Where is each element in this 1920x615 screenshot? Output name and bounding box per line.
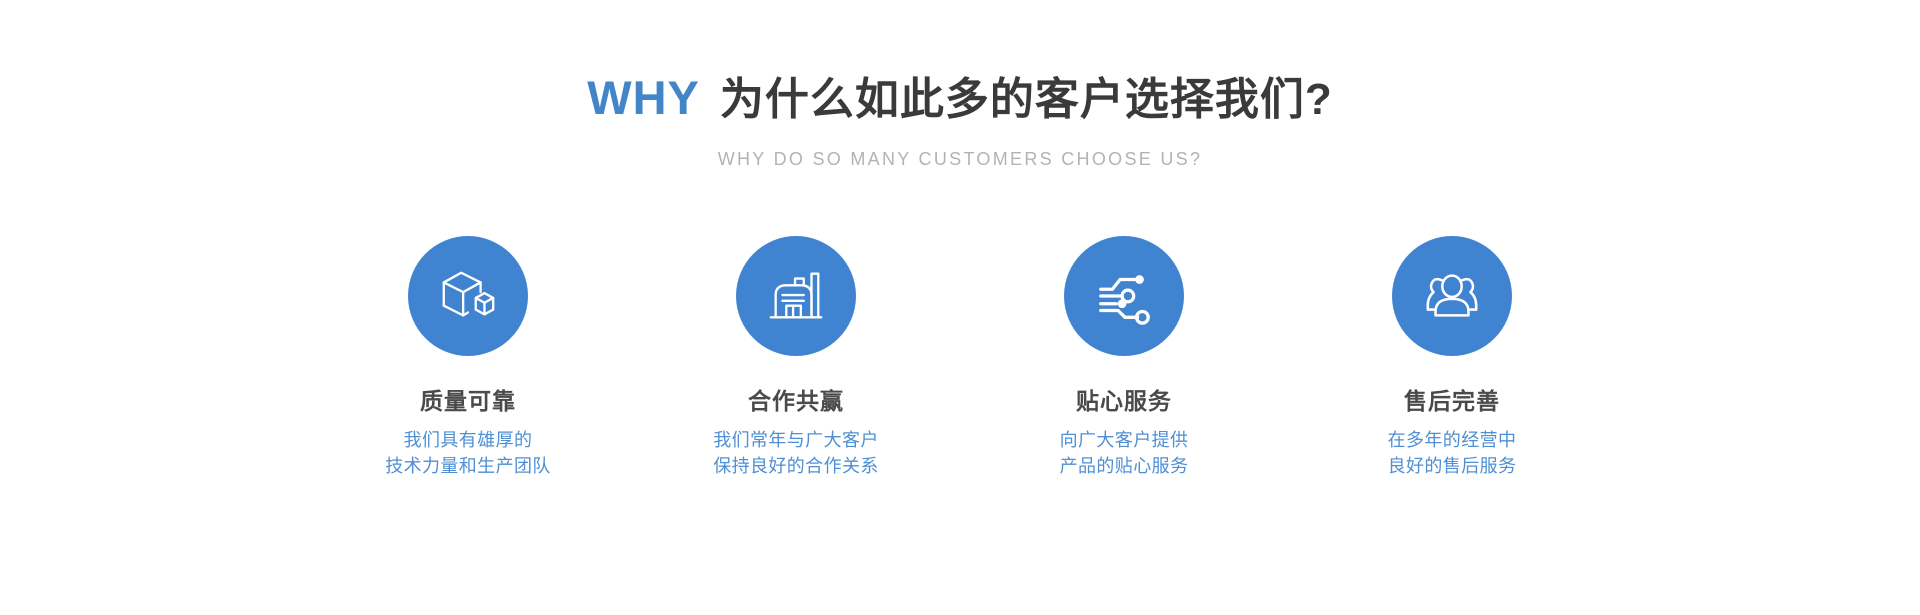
feature-card-description-line: 产品的贴心服务 (1060, 454, 1189, 480)
feature-card-description-line: 保持良好的合作关系 (713, 454, 879, 480)
why-choose-us-section: WHY 为什么如此多的客户选择我们? WHY DO SO MANY CUSTOM… (0, 0, 1920, 615)
feature-card-description: 向广大客户提供 产品的贴心服务 (1060, 428, 1189, 479)
people-group-icon (1421, 265, 1483, 327)
feature-card-description-line: 我们具有雄厚的 (385, 428, 551, 454)
icon-badge (736, 236, 856, 356)
feature-card-title: 合作共赢 (748, 389, 844, 414)
circuit-nodes-icon (1093, 265, 1155, 327)
icon-badge (408, 236, 528, 356)
feature-card[interactable]: 售后完善 在多年的经营中 良好的售后服务 (1329, 236, 1575, 479)
page-title: WHY 为什么如此多的客户选择我们? (587, 74, 1333, 122)
feature-card-description: 我们常年与广大客户 保持良好的合作关系 (713, 428, 879, 479)
feature-card[interactable]: 贴心服务 向广大客户提供 产品的贴心服务 (1001, 236, 1247, 479)
feature-card[interactable]: 质量可靠 我们具有雄厚的 技术力量和生产团队 (345, 236, 591, 479)
icon-badge (1392, 236, 1512, 356)
feature-card-description-line: 技术力量和生产团队 (385, 454, 551, 480)
feature-card-title: 质量可靠 (420, 389, 516, 414)
factory-icon (765, 265, 827, 327)
feature-card-description-line: 良好的售后服务 (1388, 454, 1517, 480)
icon-badge (1064, 236, 1184, 356)
feature-card-description-line: 在多年的经营中 (1388, 428, 1517, 454)
feature-card-title: 售后完善 (1404, 389, 1500, 414)
feature-card-title: 贴心服务 (1076, 389, 1172, 414)
feature-card-description-line: 向广大客户提供 (1060, 428, 1189, 454)
heading-main: 为什么如此多的客户选择我们? (720, 78, 1333, 122)
heading-highlight: WHY (587, 74, 700, 121)
feature-card[interactable]: 合作共赢 我们常年与广大客户 保持良好的合作关系 (673, 236, 919, 479)
feature-card-description-line: 我们常年与广大客户 (713, 428, 879, 454)
feature-card-description: 在多年的经营中 良好的售后服务 (1388, 428, 1517, 479)
feature-card-description: 我们具有雄厚的 技术力量和生产团队 (385, 428, 551, 479)
feature-card-list: 质量可靠 我们具有雄厚的 技术力量和生产团队 (345, 236, 1575, 479)
page-subtitle: WHY DO SO MANY CUSTOMERS CHOOSE US? (718, 149, 1203, 170)
package-box-icon (437, 265, 499, 327)
